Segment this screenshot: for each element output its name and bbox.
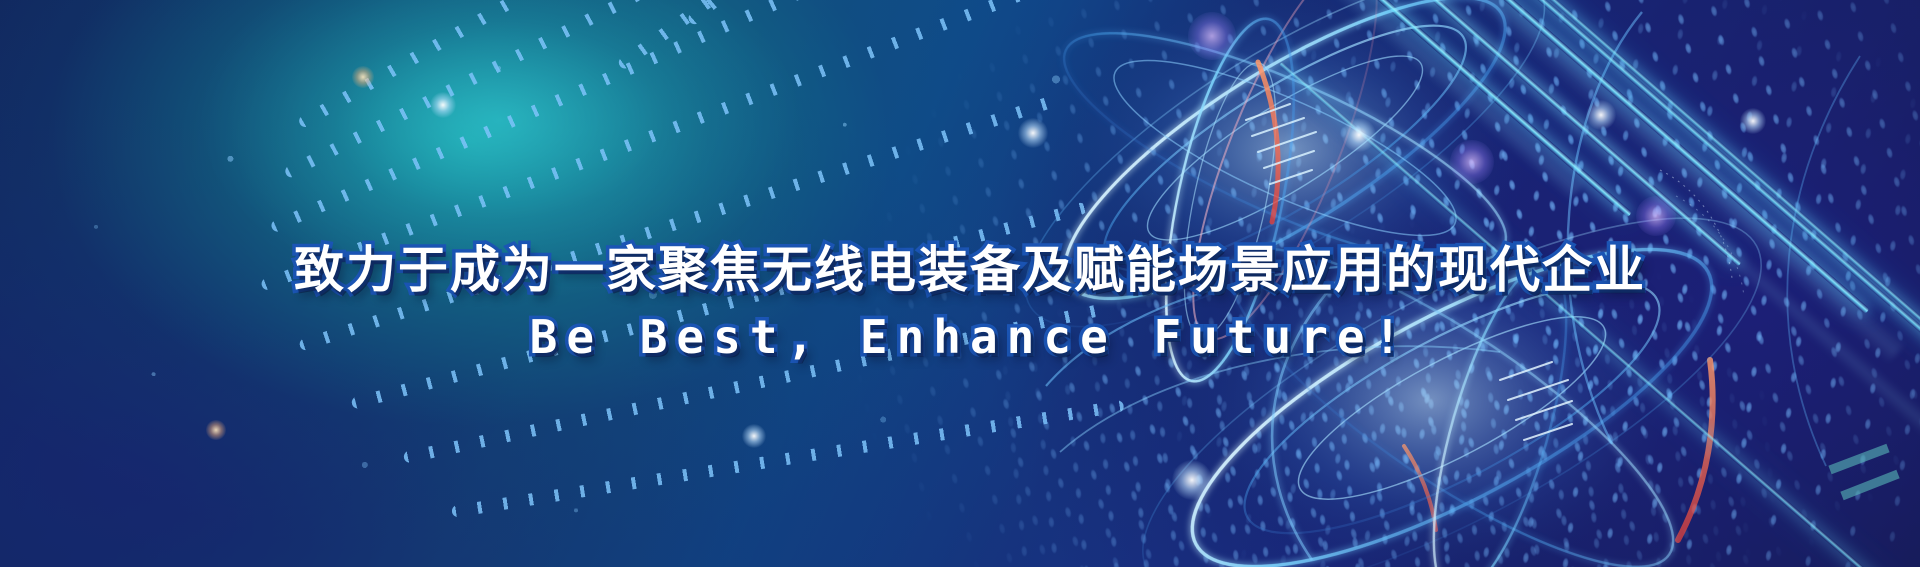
banner-headline-chinese: 致力于成为一家聚焦无线电装备及赋能场景应用的现代企业	[0, 238, 1920, 302]
hero-banner: 致力于成为一家聚焦无线电装备及赋能场景应用的现代企业 Be Best, Enha…	[0, 0, 1920, 567]
banner-subline-english: Be Best, Enhance Future!	[0, 306, 1920, 368]
banner-text-block: 致力于成为一家聚焦无线电装备及赋能场景应用的现代企业 Be Best, Enha…	[0, 238, 1920, 368]
